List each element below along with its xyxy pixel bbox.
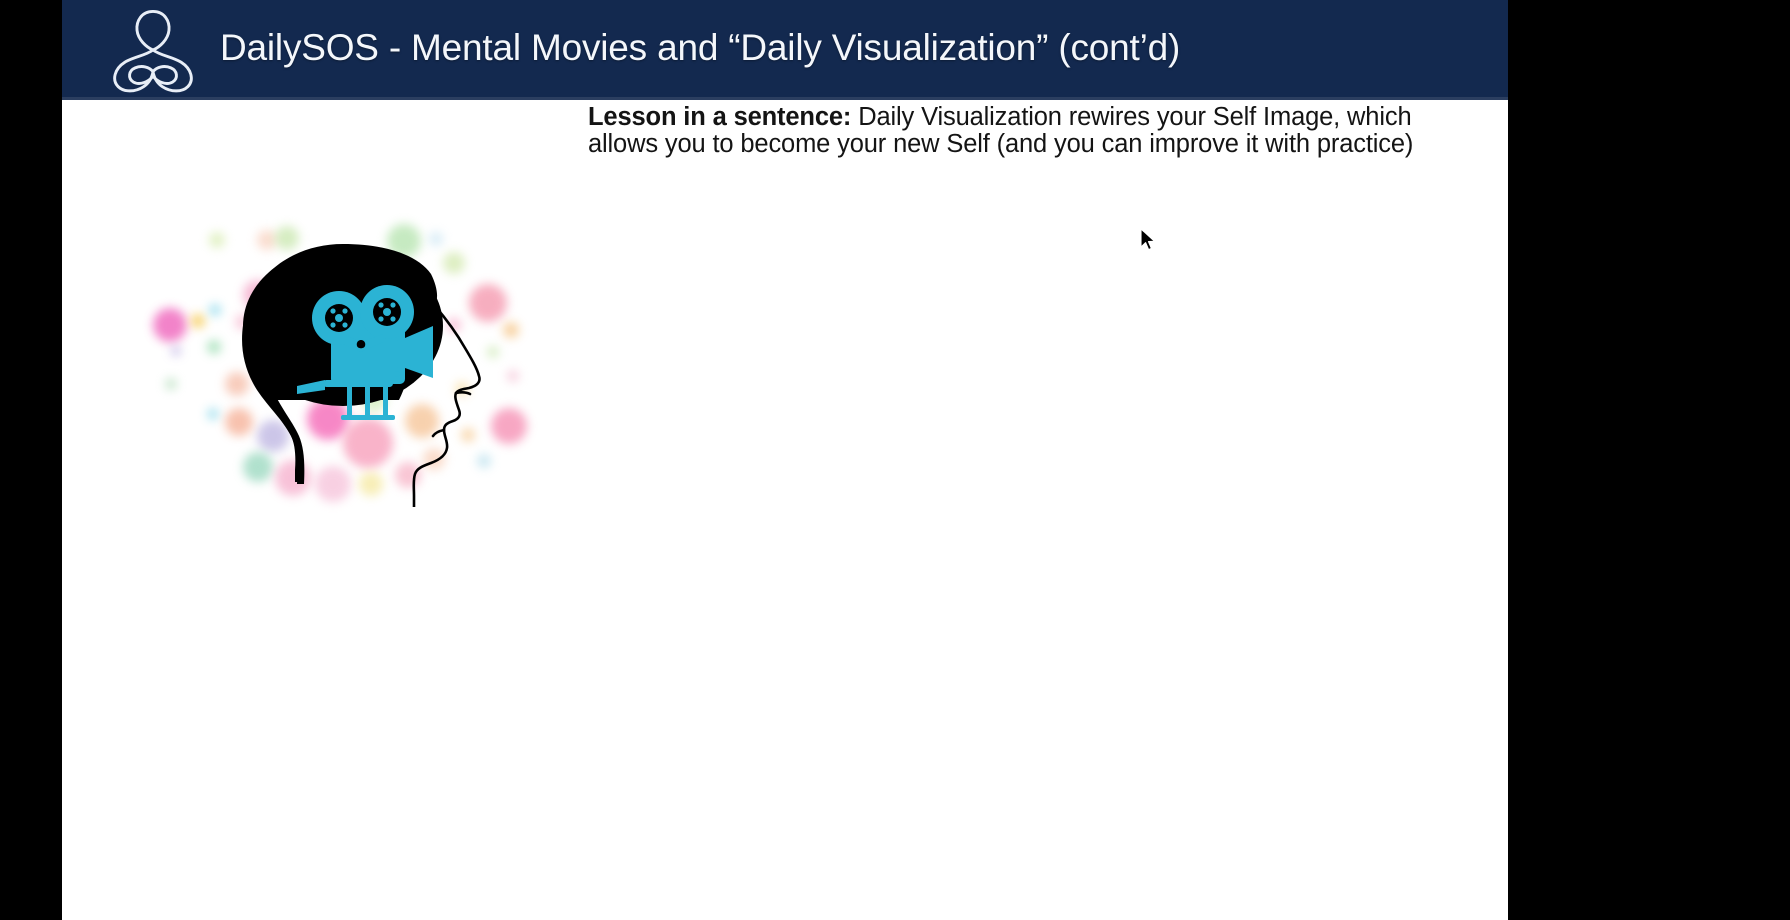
presentation-slide: DailySOS - Mental Movies and “Daily Visu… (62, 0, 1508, 920)
lesson-paragraph: Lesson in a sentence: Daily Visualizatio… (588, 104, 1478, 158)
head-profile-and-camera-artwork (147, 222, 547, 507)
slide-header-bar: DailySOS - Mental Movies and “Daily Visu… (62, 0, 1508, 100)
head-with-movie-camera-illustration (147, 222, 547, 507)
dailysos-meditation-logo-icon (106, 3, 200, 97)
slide-title: DailySOS - Mental Movies and “Daily Visu… (220, 20, 1490, 76)
lesson-lead-label: Lesson in a sentence: (588, 103, 851, 131)
screen-root: DailySOS - Mental Movies and “Daily Visu… (0, 0, 1790, 920)
